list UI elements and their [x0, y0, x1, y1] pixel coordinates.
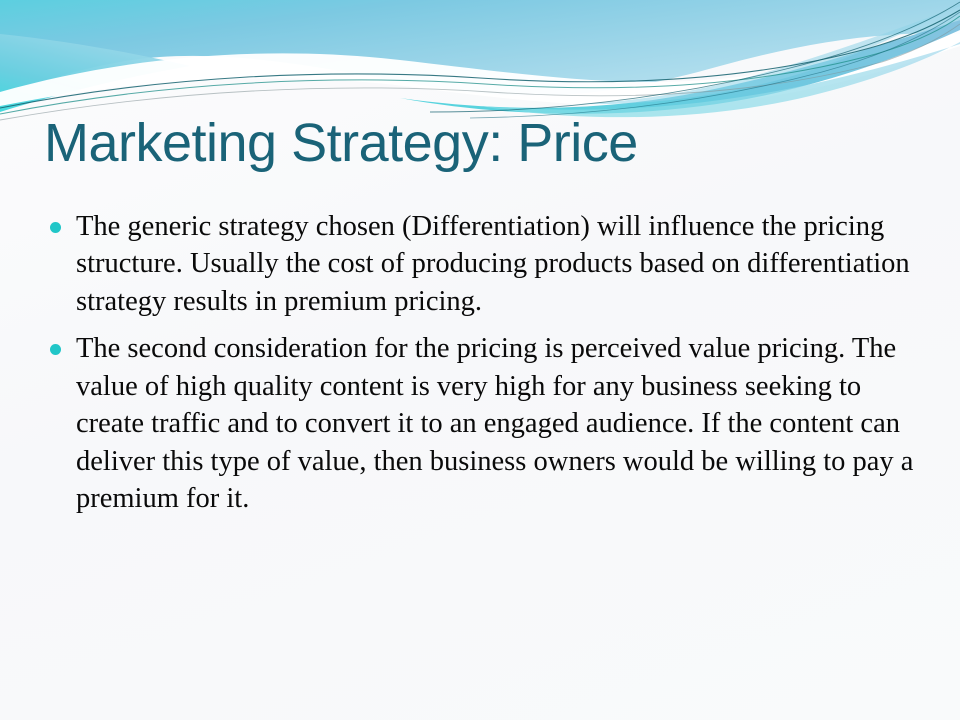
bullet-text: The generic strategy chosen (Differentia… [76, 208, 930, 320]
wave-header-decoration [0, 0, 960, 130]
slide-title: Marketing Strategy: Price [44, 113, 914, 175]
wave-line-5 [470, 12, 960, 118]
bullet-list-item: The second consideration for the pricing… [50, 330, 930, 517]
wave-band-primary [0, 0, 960, 99]
wave-wedge-left [0, 34, 190, 112]
slide-body: The generic strategy chosen (Differentia… [50, 208, 930, 528]
wave-ribbon-right-2 [480, 42, 960, 117]
wave-line-1 [0, 10, 960, 108]
wave-ribbon-right-1 [400, 20, 960, 114]
bullet-dot-icon [50, 222, 61, 233]
wave-line-4 [430, 2, 960, 112]
wave-ribbon-white [0, 20, 960, 106]
wave-ribbon-right-3 [580, 4, 960, 104]
presentation-slide: Marketing Strategy: Price The generic st… [0, 0, 960, 720]
wave-line-2 [0, 16, 960, 114]
bullet-dot-icon [50, 344, 61, 355]
bullet-text: The second consideration for the pricing… [76, 330, 930, 517]
wave-line-3 [0, 24, 960, 120]
bullet-list-item: The generic strategy chosen (Differentia… [50, 208, 930, 320]
